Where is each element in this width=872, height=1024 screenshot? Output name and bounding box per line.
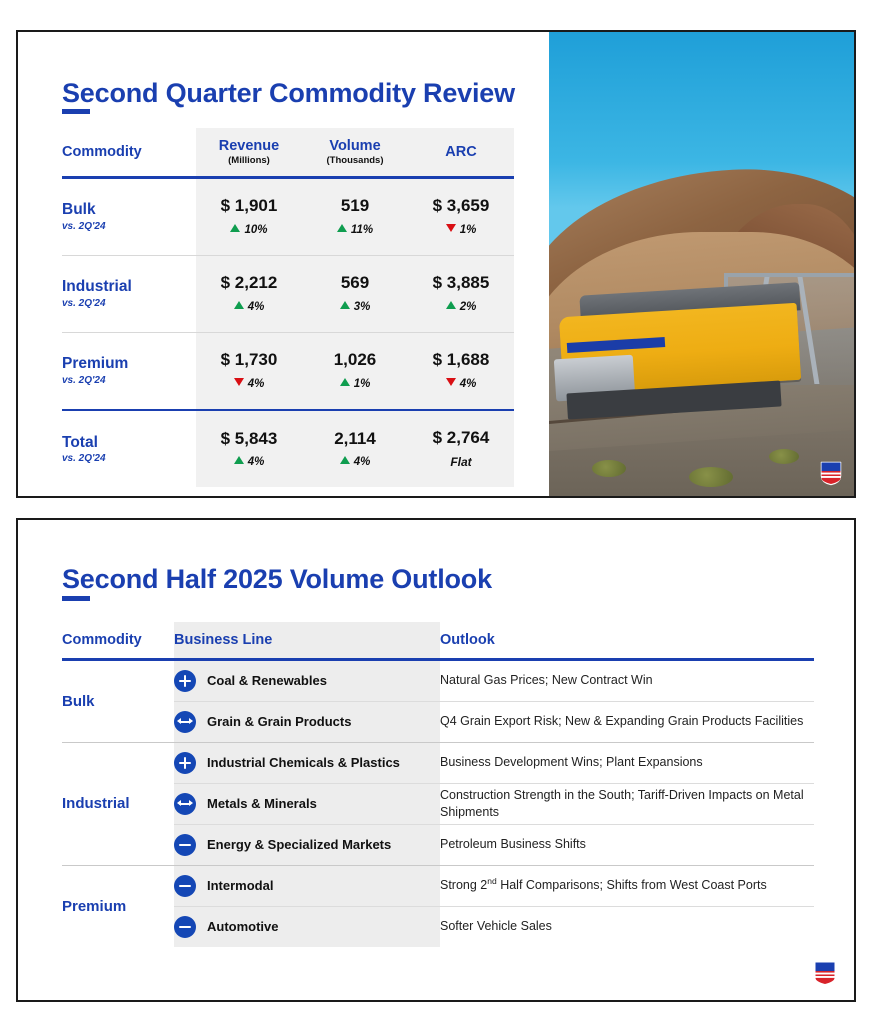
outlook-intermodal: Strong 2nd Half Comparisons; Shifts from…: [440, 866, 814, 906]
table-row: Automotive Softer Vehicle Sales: [62, 907, 814, 947]
row-vs-label: vs. 2Q'24: [62, 221, 196, 232]
delta-total-revenue: 4%: [196, 456, 302, 468]
photo-bush: [769, 449, 799, 464]
union-pacific-shield-logo: [814, 961, 836, 986]
page-title: Second Half 2025 Volume Outlook: [62, 564, 492, 595]
group-label-industrial: Industrial: [62, 743, 174, 865]
plus-icon: [174, 670, 196, 692]
slide-commodity-review: Second Quarter Commodity Review Commodit…: [16, 30, 856, 498]
outlook-grain: Q4 Grain Export Risk; New & Expanding Gr…: [440, 702, 814, 742]
train-photo: [549, 32, 854, 496]
photo-bush: [689, 467, 733, 487]
row-label-industrial: Industrial vs. 2Q'24: [62, 256, 196, 332]
column-header-outlook: Outlook: [440, 622, 814, 658]
table-row: Bulk Coal & Renewables Natural Gas Price…: [62, 661, 814, 701]
row-label-bulk: Bulk vs. 2Q'24: [62, 179, 196, 255]
cell-industrial-arc: $ 3,885 2%: [408, 256, 514, 332]
delta-total-arc: Flat: [408, 455, 514, 469]
cell-bulk-arc: $ 3,659 1%: [408, 179, 514, 255]
page-title: Second Quarter Commodity Review: [62, 78, 515, 109]
group-label-premium: Premium: [62, 866, 174, 947]
column-header-business-line: Business Line: [174, 622, 440, 658]
business-line-automotive: Automotive: [174, 907, 440, 947]
minus-icon: [174, 834, 196, 856]
cell-industrial-volume: 569 3%: [302, 256, 408, 332]
delta-premium-arc: 4%: [408, 378, 514, 390]
bidirectional-arrows-icon: [174, 711, 196, 733]
row-vs-label: vs. 2Q'24: [62, 453, 196, 464]
cell-total-arc: $ 2,764 Flat: [408, 411, 514, 487]
column-header-volume-unit: (Thousands): [302, 155, 408, 166]
table-row: Premium Intermodal Strong 2nd Half Compa…: [62, 866, 814, 906]
plus-icon: [174, 752, 196, 774]
business-line-industrial-chemicals: Industrial Chemicals & Plastics: [174, 743, 440, 783]
column-header-commodity: Commodity: [62, 128, 196, 176]
title-accent-bar: [62, 109, 90, 114]
delta-bulk-arc: 1%: [408, 224, 514, 236]
ordinal-suffix: nd: [487, 876, 496, 886]
delta-premium-revenue: 4%: [196, 378, 302, 390]
delta-industrial-arc: 2%: [408, 301, 514, 313]
table-row: Bulk vs. 2Q'24 $ 1,901 10% 519 11% $ 3,6…: [62, 179, 514, 255]
business-line-energy-specialized: Energy & Specialized Markets: [174, 825, 440, 865]
cell-premium-volume: 1,026 1%: [302, 333, 408, 409]
table-row-total: Total vs. 2Q'24 $ 5,843 4% 2,114 4% $ 2,…: [62, 411, 514, 487]
row-label-total: Total vs. 2Q'24: [62, 411, 196, 487]
column-header-volume: Volume (Thousands): [302, 128, 408, 176]
row-label-premium: Premium vs. 2Q'24: [62, 333, 196, 409]
table-row: Grain & Grain Products Q4 Grain Export R…: [62, 702, 814, 742]
cell-premium-arc: $ 1,688 4%: [408, 333, 514, 409]
outlook-energy-specialized: Petroleum Business Shifts: [440, 825, 814, 865]
cell-total-volume: 2,114 4%: [302, 411, 408, 487]
cell-industrial-revenue: $ 2,212 4%: [196, 256, 302, 332]
row-vs-label: vs. 2Q'24: [62, 298, 196, 309]
cell-bulk-revenue: $ 1,901 10%: [196, 179, 302, 255]
table-row: Metals & Minerals Construction Strength …: [62, 784, 814, 824]
outlook-industrial-chemicals: Business Development Wins; Plant Expansi…: [440, 743, 814, 783]
outlook-coal-renewables: Natural Gas Prices; New Contract Win: [440, 661, 814, 701]
cell-bulk-volume: 519 11%: [302, 179, 408, 255]
volume-outlook-table: Commodity Business Line Outlook Bulk C: [62, 622, 814, 947]
delta-industrial-volume: 3%: [302, 301, 408, 313]
business-line-intermodal: Intermodal: [174, 866, 440, 906]
bidirectional-arrows-icon: [174, 793, 196, 815]
group-label-bulk: Bulk: [62, 661, 174, 742]
business-line-coal-renewables: Coal & Renewables: [174, 661, 440, 701]
column-header-arc: ARC: [408, 128, 514, 176]
cell-total-revenue: $ 5,843 4%: [196, 411, 302, 487]
table-header-row: Commodity Business Line Outlook: [62, 622, 814, 658]
row-vs-label: vs. 2Q'24: [62, 375, 196, 386]
delta-industrial-revenue: 4%: [196, 301, 302, 313]
table-row: Premium vs. 2Q'24 $ 1,730 4% 1,026 1% $ …: [62, 333, 514, 409]
minus-icon: [174, 875, 196, 897]
delta-bulk-revenue: 10%: [196, 224, 302, 236]
table-row: Industrial Industrial Chemicals & Plasti…: [62, 743, 814, 783]
table-row: Energy & Specialized Markets Petroleum B…: [62, 825, 814, 865]
commodity-review-table: Commodity Revenue (Millions) Volume (Tho…: [62, 128, 514, 487]
cell-premium-revenue: $ 1,730 4%: [196, 333, 302, 409]
delta-premium-volume: 1%: [302, 378, 408, 390]
delta-bulk-volume: 11%: [302, 224, 408, 236]
title-accent-bar: [62, 596, 90, 601]
outlook-metals-minerals: Construction Strength in the South; Tari…: [440, 784, 814, 824]
table-header-row: Commodity Revenue (Millions) Volume (Tho…: [62, 128, 514, 176]
column-header-revenue-unit: (Millions): [196, 155, 302, 166]
column-header-revenue: Revenue (Millions): [196, 128, 302, 176]
minus-icon: [174, 916, 196, 938]
business-line-metals-minerals: Metals & Minerals: [174, 784, 440, 824]
union-pacific-shield-logo: [820, 461, 842, 486]
outlook-automotive: Softer Vehicle Sales: [440, 907, 814, 947]
business-line-grain: Grain & Grain Products: [174, 702, 440, 742]
slide-volume-outlook: Second Half 2025 Volume Outlook Commodit…: [16, 518, 856, 1002]
column-header-commodity: Commodity: [62, 622, 174, 658]
delta-total-volume: 4%: [302, 456, 408, 468]
table-row: Industrial vs. 2Q'24 $ 2,212 4% 569 3% $…: [62, 256, 514, 332]
presentation-page: Second Quarter Commodity Review Commodit…: [0, 0, 872, 1024]
